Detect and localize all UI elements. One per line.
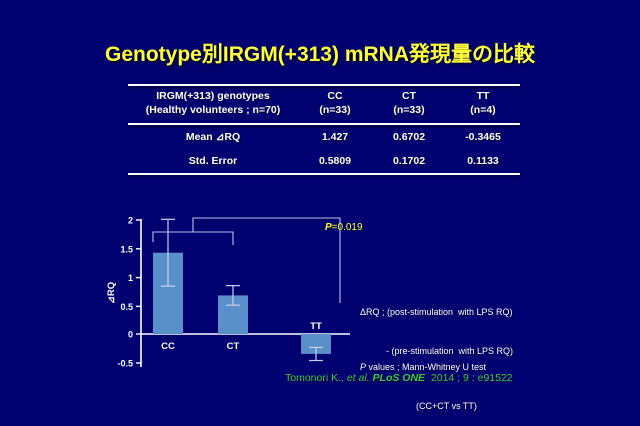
ytick-1: 1 [128, 273, 133, 283]
table-header-label: IRGM(+313) genotypes (Healthy volunteers… [128, 86, 298, 123]
header-label-line2: (Healthy volunteers ; n=70) [128, 104, 298, 118]
row-label-mean: Mean ⊿RQ [128, 125, 298, 149]
table-header-col-tt: TT (n=4) [446, 86, 520, 123]
stats-table: IRGM(+313) genotypes (Healthy volunteers… [128, 84, 520, 175]
table-row: Mean ⊿RQ 1.427 0.6702 -0.3465 [128, 125, 520, 149]
p-value-number: =0.019 [332, 222, 363, 233]
citation-etal: et al. [344, 372, 370, 384]
table-row: Std. Error 0.5809 0.1702 0.1133 [128, 149, 520, 173]
table-header-row: IRGM(+313) genotypes (Healthy volunteers… [128, 86, 520, 123]
drq-definition-line1: ΔRQ ; (post-stimulation with LPS RQ) [360, 306, 513, 319]
y-axis-tick-labels: 2 1.5 1 0.5 0 -0.5 [117, 216, 133, 369]
xlabel-tt: TT [310, 321, 322, 332]
bracket-outer [193, 218, 340, 303]
xlabel-cc: CC [161, 341, 175, 352]
genotype-stats-body: Mean ⊿RQ 1.427 0.6702 -0.3465 Std. Error… [128, 125, 520, 173]
header-tt-n: (n=4) [446, 104, 520, 118]
mean-cc: 1.427 [298, 125, 372, 149]
header-cc-name: CC [298, 90, 372, 104]
p-value-symbol: P [325, 222, 332, 233]
bracket-inner [153, 232, 233, 245]
table-header-col-ct: CT (n=33) [372, 86, 446, 123]
bars [153, 253, 331, 354]
page-title: Genotype別IRGM(+313) mRNA発現量の比較 [0, 38, 640, 68]
table-header-col-cc: CC (n=33) [298, 86, 372, 123]
mean-tt: -0.3465 [446, 125, 520, 149]
header-tt-name: TT [446, 90, 520, 104]
citation-journal: PLoS ONE [370, 372, 425, 384]
citation-details: 2014 ; 9 : e91522 [425, 372, 513, 384]
pvalue-method-line2: (CC+CT vs TT) [360, 400, 486, 413]
header-ct-n: (n=33) [372, 104, 446, 118]
header-ct-name: CT [372, 90, 446, 104]
ytick-0: 0 [128, 330, 133, 340]
pvalue-method-text: values ; Mann-Whitney U test [366, 362, 486, 372]
mean-ct: 0.6702 [372, 125, 446, 149]
table-rule-bottom [128, 173, 520, 175]
ytick-2: 2 [128, 216, 133, 226]
bar-chart-svg: 2 1.5 1 0.5 0 -0.5 ⊿RQ [100, 205, 350, 380]
error-bars [161, 219, 323, 360]
ytick-neg0p5: -0.5 [117, 359, 133, 369]
citation-authors: Tomonori K., [285, 372, 344, 384]
ytick-0p5: 0.5 [120, 302, 133, 312]
genotype-stats-table: IRGM(+313) genotypes (Healthy volunteers… [128, 86, 520, 123]
ytick-1p5: 1.5 [120, 244, 133, 254]
stderr-ct: 0.1702 [372, 149, 446, 173]
p-value-annotation: P=0.019 [325, 222, 363, 233]
stderr-cc: 0.5809 [298, 149, 372, 173]
header-label-line1: IRGM(+313) genotypes [128, 90, 298, 104]
citation: Tomonori K., et al. PLoS ONE 2014 ; 9 : … [285, 372, 513, 384]
header-cc-n: (n=33) [298, 104, 372, 118]
xlabel-ct: CT [227, 341, 240, 352]
y-axis-title: ⊿RQ [106, 282, 117, 304]
stderr-tt: 0.1133 [446, 149, 520, 173]
bar-chart: 2 1.5 1 0.5 0 -0.5 ⊿RQ [100, 205, 350, 380]
row-label-stderr: Std. Error [128, 149, 298, 173]
